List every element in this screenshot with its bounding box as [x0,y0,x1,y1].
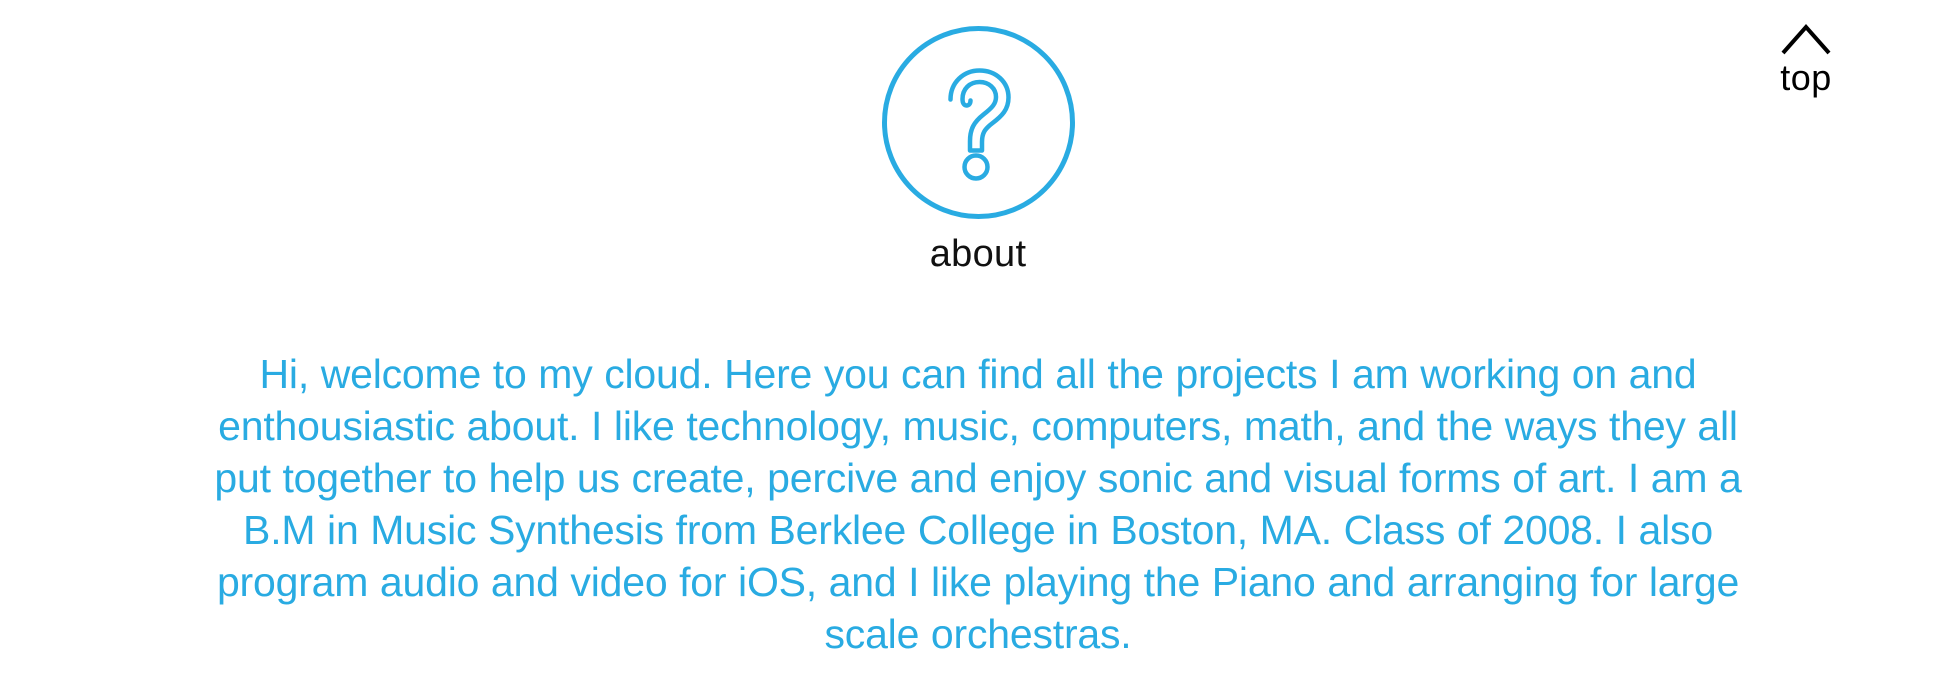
section-title: about [930,235,1027,273]
about-page: { "theme": { "accent_color": "#29abe2", … [0,0,1956,684]
question-mark-icon[interactable] [882,26,1075,219]
about-section-header: about [0,26,1956,273]
about-description: Hi, welcome to my cloud. Here you can fi… [213,348,1743,660]
